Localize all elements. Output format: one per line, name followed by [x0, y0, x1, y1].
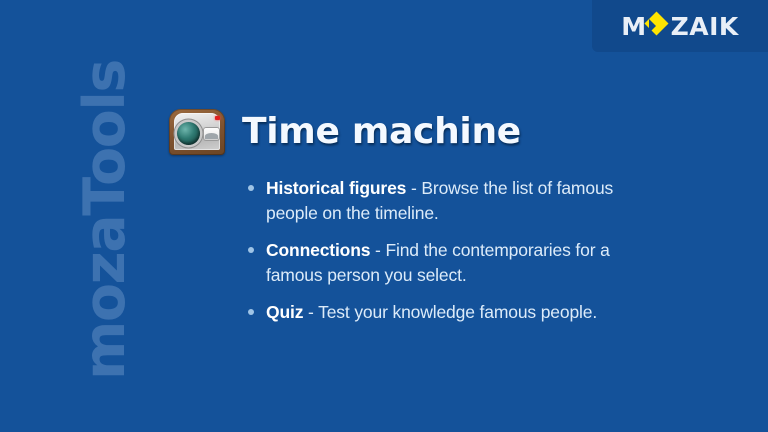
feature-name: Connections [266, 240, 370, 260]
logo-text-left: M [621, 14, 646, 39]
list-item[interactable]: Connections - Find the contemporaries fo… [246, 238, 636, 288]
feature-separator: - [303, 302, 318, 322]
feature-separator: - [370, 240, 385, 260]
mozaik-wordmark: M ZAIK [621, 13, 739, 39]
title-row: Time machine [166, 104, 636, 160]
list-item[interactable]: Quiz - Test your knowledge famous people… [246, 300, 636, 325]
mozaik-logo[interactable]: M ZAIK [592, 0, 768, 52]
feature-name: Quiz [266, 302, 303, 322]
bullet-icon [248, 309, 254, 315]
retro-radio-icon [166, 107, 228, 157]
watermark-label: mozaTools [77, 60, 134, 380]
mozatools-watermark: mozaTools [75, 0, 135, 380]
logo-text-right: ZAIK [671, 14, 739, 39]
diamond-icon [648, 15, 670, 37]
feature-description: Test your knowledge famous people. [318, 302, 597, 322]
feature-separator: - [406, 178, 421, 198]
feature-name: Historical figures [266, 178, 406, 198]
page-title: Time machine [242, 112, 521, 152]
bullet-icon [248, 247, 254, 253]
feature-list: Historical figures - Browse the list of … [246, 176, 636, 325]
slide-screen: M ZAIK mozaTools Time machine [0, 0, 768, 432]
slide-content: Time machine Historical figures - Browse… [166, 104, 636, 325]
bullet-icon [248, 185, 254, 191]
list-item[interactable]: Historical figures - Browse the list of … [246, 176, 636, 226]
